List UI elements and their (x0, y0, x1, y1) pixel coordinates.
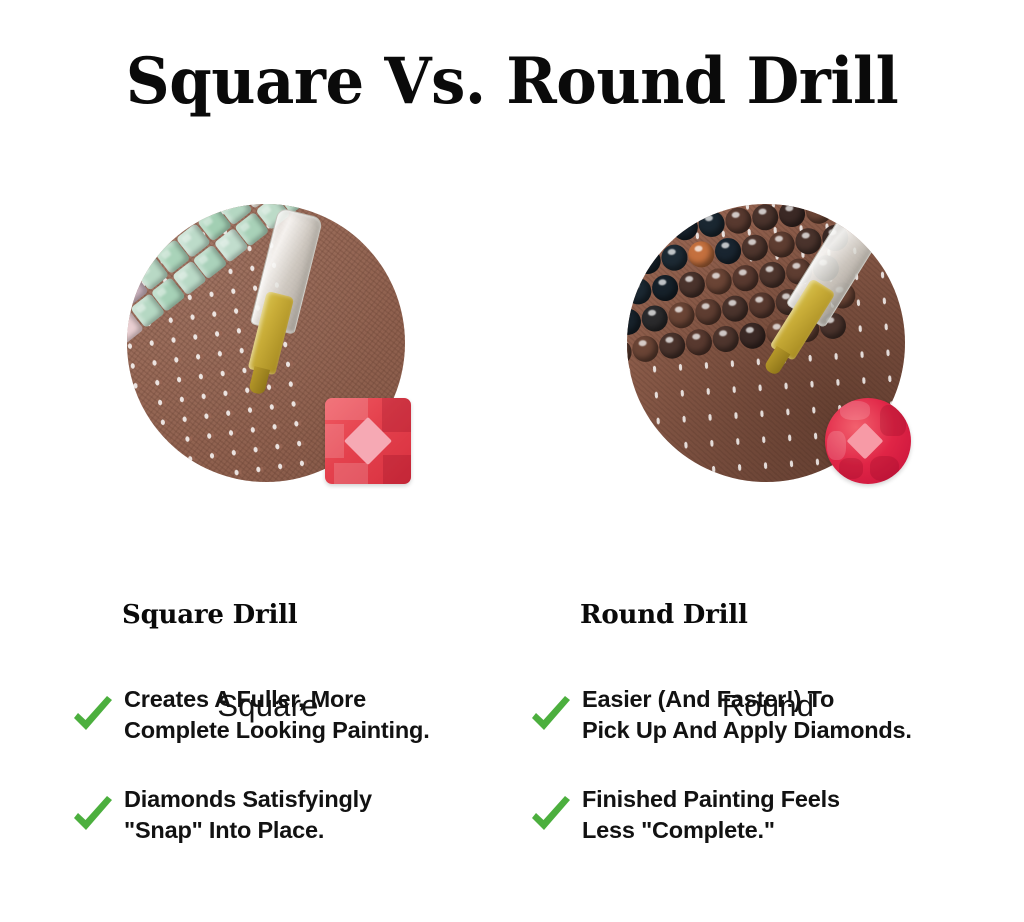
check-icon (70, 794, 116, 840)
list-item-label: Creates A Fuller, More Complete Looking … (124, 684, 430, 746)
square-drill-column: Square Drill Creates A Fuller, More Comp… (70, 600, 510, 884)
photo-comparison-row: Square Round (0, 200, 1024, 490)
check-icon (70, 694, 116, 740)
list-item: Diamonds Satisfyingly "Snap" Into Place. (70, 784, 510, 846)
list-item-label: Easier (And Faster!) To Pick Up And Appl… (582, 684, 912, 746)
comparison-columns: Square Drill Creates A Fuller, More Comp… (0, 600, 1024, 890)
pen-tip (248, 366, 270, 395)
list-item: Easier (And Faster!) To Pick Up And Appl… (528, 684, 968, 746)
round-drill-column: Round Drill Easier (And Faster!) To Pick… (528, 600, 968, 884)
list-item-label: Diamonds Satisfyingly "Snap" Into Place. (124, 784, 372, 846)
round-drill-heading: Round Drill (580, 600, 968, 630)
check-icon (528, 694, 574, 740)
infographic-page: Square Vs. Round Drill (0, 0, 1024, 922)
page-title: Square Vs. Round Drill (26, 48, 999, 115)
check-icon (528, 794, 574, 840)
round-photo-column (623, 200, 913, 490)
list-item-label: Finished Painting Feels Less "Complete." (582, 784, 840, 846)
square-photo-column (123, 200, 413, 490)
list-item: Finished Painting Feels Less "Complete." (528, 784, 968, 846)
square-drill-heading: Square Drill (122, 600, 510, 630)
list-item: Creates A Fuller, More Complete Looking … (70, 684, 510, 746)
square-gem-icon (325, 398, 411, 484)
round-gem-icon (825, 398, 911, 484)
